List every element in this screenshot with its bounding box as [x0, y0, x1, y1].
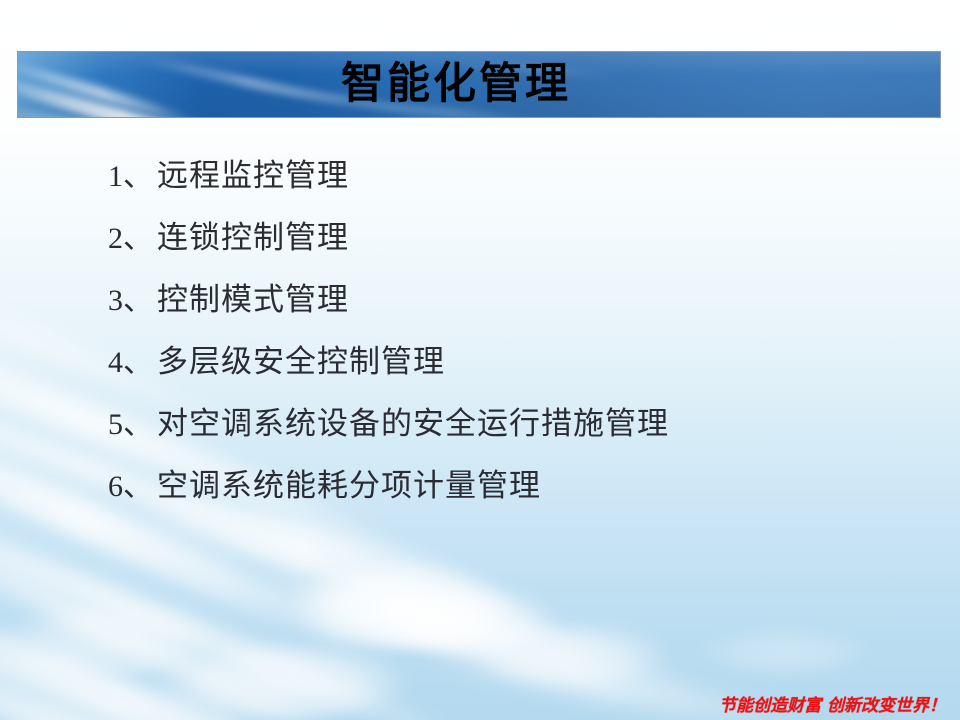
cloud-streak: [0, 511, 357, 720]
list-item: 5 、 对空调系统设备的安全运行措施管理: [108, 408, 928, 470]
list-item-number: 2: [108, 224, 123, 254]
slide-title-banner: 智能化管理: [17, 51, 941, 118]
banner-cloud-streak: [77, 108, 356, 118]
cloud-puff: [380, 585, 560, 655]
list-item-separator: 、: [123, 472, 157, 502]
banner-cloud-streak: [17, 86, 251, 118]
list-item-label: 连锁控制管理: [157, 222, 349, 253]
cloud-streak: [0, 546, 543, 720]
list-item-number: 1: [108, 162, 123, 192]
list-item-number: 5: [108, 410, 123, 440]
list-item-label: 多层级安全控制管理: [157, 346, 445, 377]
list-item-label: 远程监控管理: [157, 160, 349, 191]
list-item: 3 、 控制模式管理: [108, 284, 928, 346]
list-item: 6 、 空调系统能耗分项计量管理: [108, 470, 928, 532]
footer-slogan: 节能创造财富 创新改变世界！: [719, 691, 946, 716]
banner-cloud-streak: [17, 98, 312, 118]
cloud-puff: [700, 628, 870, 674]
banner-cloud-streak: [17, 56, 201, 118]
list-item-separator: 、: [123, 162, 157, 192]
list-item-label: 对空调系统设备的安全运行措施管理: [157, 408, 669, 439]
cloud-streak: [244, 556, 711, 714]
list-item: 4 、 多层级安全控制管理: [108, 346, 928, 408]
list-item-label: 空调系统能耗分项计量管理: [157, 470, 541, 501]
cloud-puff: [150, 640, 410, 720]
list-item-separator: 、: [123, 348, 157, 378]
cloud-puff: [0, 600, 220, 678]
list-item-separator: 、: [123, 224, 157, 254]
banner-cloud-streak: [137, 54, 354, 109]
presentation-slide: 智能化管理 1 、 远程监控管理 2 、 连锁控制管理 3 、 控制模式管理 4…: [0, 0, 960, 720]
list-item: 1 、 远程监控管理: [108, 160, 928, 222]
banner-cloud-streak: [17, 68, 259, 118]
content-list: 1 、 远程监控管理 2 、 连锁控制管理 3 、 控制模式管理 4 、 多层级…: [108, 160, 928, 532]
list-item-number: 3: [108, 286, 123, 316]
list-item-separator: 、: [123, 286, 157, 316]
cloud-puff: [470, 620, 670, 686]
cloud-puff: [285, 560, 515, 650]
list-item: 2 、 连锁控制管理: [108, 222, 928, 284]
list-item-label: 控制模式管理: [157, 284, 349, 315]
cloud-streak: [0, 611, 436, 720]
list-item-number: 6: [108, 472, 123, 502]
page-title: 智能化管理: [341, 63, 571, 106]
cloud-streak: [0, 656, 425, 720]
list-item-number: 4: [108, 348, 123, 378]
list-item-separator: 、: [123, 410, 157, 440]
